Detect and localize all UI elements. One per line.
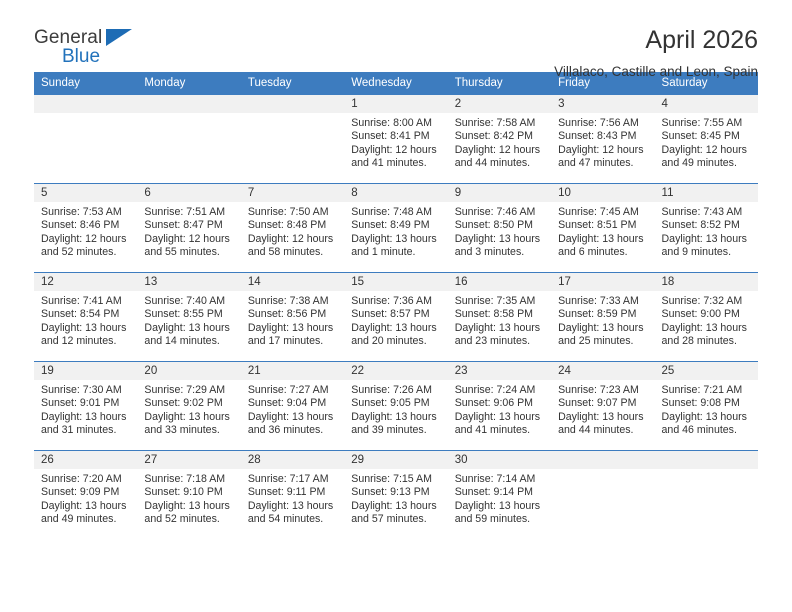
title-block: April 2026 Villalaco, Castille and Leon,… [554, 26, 758, 81]
sunset-text: Sunset: 8:50 PM [455, 219, 542, 232]
day-details: Sunrise: 7:32 AMSunset: 9:00 PMDaylight:… [655, 291, 758, 349]
day-number: 15 [344, 273, 447, 291]
day-details: Sunrise: 7:26 AMSunset: 9:05 PMDaylight:… [344, 380, 447, 438]
sunset-text: Sunset: 8:42 PM [455, 130, 542, 143]
day-number: 27 [137, 451, 240, 469]
page-header: General Blue April 2026 Villalaco, Casti… [34, 0, 758, 72]
sunset-text: Sunset: 8:46 PM [41, 219, 128, 232]
sunset-text: Sunset: 8:57 PM [351, 308, 438, 321]
day-details [655, 469, 758, 473]
calendar-day-cell[interactable]: 22Sunrise: 7:26 AMSunset: 9:05 PMDayligh… [344, 362, 447, 451]
sunset-text: Sunset: 9:14 PM [455, 486, 542, 499]
day-number: 20 [137, 362, 240, 380]
sunset-text: Sunset: 8:55 PM [144, 308, 231, 321]
calendar-table: Sunday Monday Tuesday Wednesday Thursday… [34, 72, 758, 540]
calendar-day-cell[interactable]: 28Sunrise: 7:17 AMSunset: 9:11 PMDayligh… [241, 451, 344, 540]
weekday-header-sunday: Sunday [34, 72, 137, 95]
day-details: Sunrise: 7:43 AMSunset: 8:52 PMDaylight:… [655, 202, 758, 260]
day-details: Sunrise: 7:29 AMSunset: 9:02 PMDaylight:… [137, 380, 240, 438]
day-details: Sunrise: 7:40 AMSunset: 8:55 PMDaylight:… [137, 291, 240, 349]
sunset-text: Sunset: 8:49 PM [351, 219, 438, 232]
day-number: 13 [137, 273, 240, 291]
day-cell-content [137, 95, 240, 183]
day-details: Sunrise: 7:55 AMSunset: 8:45 PMDaylight:… [655, 113, 758, 171]
day-details [34, 113, 137, 117]
sunset-text: Sunset: 9:02 PM [144, 397, 231, 410]
calendar-day-cell[interactable]: 25Sunrise: 7:21 AMSunset: 9:08 PMDayligh… [655, 362, 758, 451]
day-cell-content [551, 451, 654, 540]
daylight-text: Daylight: 13 hours and 36 minutes. [248, 411, 335, 438]
daylight-text: Daylight: 13 hours and 31 minutes. [41, 411, 128, 438]
sunrise-text: Sunrise: 7:45 AM [558, 206, 645, 219]
day-details: Sunrise: 8:00 AMSunset: 8:41 PMDaylight:… [344, 113, 447, 171]
sunset-text: Sunset: 8:58 PM [455, 308, 542, 321]
sunrise-text: Sunrise: 7:29 AM [144, 384, 231, 397]
day-number: 3 [551, 95, 654, 113]
calendar-body: 1Sunrise: 8:00 AMSunset: 8:41 PMDaylight… [34, 95, 758, 540]
day-cell-content: 6Sunrise: 7:51 AMSunset: 8:47 PMDaylight… [137, 184, 240, 272]
daylight-text: Daylight: 13 hours and 44 minutes. [558, 411, 645, 438]
day-cell-content: 24Sunrise: 7:23 AMSunset: 9:07 PMDayligh… [551, 362, 654, 450]
day-details: Sunrise: 7:46 AMSunset: 8:50 PMDaylight:… [448, 202, 551, 260]
sunrise-text: Sunrise: 7:15 AM [351, 473, 438, 486]
sunrise-text: Sunrise: 7:58 AM [455, 117, 542, 130]
sunrise-text: Sunrise: 7:43 AM [662, 206, 749, 219]
sunrise-text: Sunrise: 7:53 AM [41, 206, 128, 219]
calendar-day-cell[interactable]: 8Sunrise: 7:48 AMSunset: 8:49 PMDaylight… [344, 184, 447, 273]
day-cell-content: 16Sunrise: 7:35 AMSunset: 8:58 PMDayligh… [448, 273, 551, 361]
calendar-day-cell[interactable]: 5Sunrise: 7:53 AMSunset: 8:46 PMDaylight… [34, 184, 137, 273]
day-number: 24 [551, 362, 654, 380]
sunset-text: Sunset: 8:52 PM [662, 219, 749, 232]
sunrise-text: Sunrise: 7:23 AM [558, 384, 645, 397]
day-cell-content: 4Sunrise: 7:55 AMSunset: 8:45 PMDaylight… [655, 95, 758, 183]
day-cell-content: 19Sunrise: 7:30 AMSunset: 9:01 PMDayligh… [34, 362, 137, 450]
day-cell-content [34, 95, 137, 183]
day-number: 26 [34, 451, 137, 469]
calendar-day-cell[interactable]: 3Sunrise: 7:56 AMSunset: 8:43 PMDaylight… [551, 95, 654, 184]
daylight-text: Daylight: 13 hours and 28 minutes. [662, 322, 749, 349]
calendar-week-row: 26Sunrise: 7:20 AMSunset: 9:09 PMDayligh… [34, 451, 758, 540]
day-cell-content: 11Sunrise: 7:43 AMSunset: 8:52 PMDayligh… [655, 184, 758, 272]
daylight-text: Daylight: 13 hours and 14 minutes. [144, 322, 231, 349]
calendar-week-row: 1Sunrise: 8:00 AMSunset: 8:41 PMDaylight… [34, 95, 758, 184]
sunset-text: Sunset: 8:43 PM [558, 130, 645, 143]
day-cell-content: 30Sunrise: 7:14 AMSunset: 9:14 PMDayligh… [448, 451, 551, 540]
day-details: Sunrise: 7:33 AMSunset: 8:59 PMDaylight:… [551, 291, 654, 349]
daylight-text: Daylight: 13 hours and 49 minutes. [41, 500, 128, 527]
sunrise-text: Sunrise: 7:21 AM [662, 384, 749, 397]
day-cell-content: 15Sunrise: 7:36 AMSunset: 8:57 PMDayligh… [344, 273, 447, 361]
day-cell-content: 26Sunrise: 7:20 AMSunset: 9:09 PMDayligh… [34, 451, 137, 540]
brand-name-general: General [34, 28, 154, 48]
sunrise-text: Sunrise: 7:46 AM [455, 206, 542, 219]
calendar-day-cell[interactable]: 19Sunrise: 7:30 AMSunset: 9:01 PMDayligh… [34, 362, 137, 451]
day-number: 8 [344, 184, 447, 202]
day-details: Sunrise: 7:56 AMSunset: 8:43 PMDaylight:… [551, 113, 654, 171]
daylight-text: Daylight: 13 hours and 54 minutes. [248, 500, 335, 527]
calendar-empty-cell [655, 451, 758, 540]
calendar-day-cell[interactable]: 14Sunrise: 7:38 AMSunset: 8:56 PMDayligh… [241, 273, 344, 362]
sunset-text: Sunset: 8:51 PM [558, 219, 645, 232]
day-details: Sunrise: 7:41 AMSunset: 8:54 PMDaylight:… [34, 291, 137, 349]
sunset-text: Sunset: 9:08 PM [662, 397, 749, 410]
daylight-text: Daylight: 13 hours and 23 minutes. [455, 322, 542, 349]
calendar-day-cell[interactable]: 27Sunrise: 7:18 AMSunset: 9:10 PMDayligh… [137, 451, 240, 540]
day-details: Sunrise: 7:20 AMSunset: 9:09 PMDaylight:… [34, 469, 137, 527]
day-cell-content: 7Sunrise: 7:50 AMSunset: 8:48 PMDaylight… [241, 184, 344, 272]
day-cell-content [655, 451, 758, 540]
day-number: 30 [448, 451, 551, 469]
sunrise-text: Sunrise: 7:24 AM [455, 384, 542, 397]
daylight-text: Daylight: 13 hours and 12 minutes. [41, 322, 128, 349]
day-number: 17 [551, 273, 654, 291]
daylight-text: Daylight: 12 hours and 49 minutes. [662, 144, 749, 171]
daylight-text: Daylight: 13 hours and 9 minutes. [662, 233, 749, 260]
day-details: Sunrise: 7:23 AMSunset: 9:07 PMDaylight:… [551, 380, 654, 438]
sunrise-text: Sunrise: 7:56 AM [558, 117, 645, 130]
day-number: 9 [448, 184, 551, 202]
day-number: 4 [655, 95, 758, 113]
sunrise-text: Sunrise: 7:18 AM [144, 473, 231, 486]
calendar-day-cell[interactable]: 11Sunrise: 7:43 AMSunset: 8:52 PMDayligh… [655, 184, 758, 273]
day-number [655, 451, 758, 469]
day-cell-content: 25Sunrise: 7:21 AMSunset: 9:08 PMDayligh… [655, 362, 758, 450]
day-number: 16 [448, 273, 551, 291]
daylight-text: Daylight: 12 hours and 41 minutes. [351, 144, 438, 171]
calendar-week-row: 19Sunrise: 7:30 AMSunset: 9:01 PMDayligh… [34, 362, 758, 451]
daylight-text: Daylight: 13 hours and 39 minutes. [351, 411, 438, 438]
day-number [551, 451, 654, 469]
sunset-text: Sunset: 8:45 PM [662, 130, 749, 143]
calendar-day-cell[interactable]: 23Sunrise: 7:24 AMSunset: 9:06 PMDayligh… [448, 362, 551, 451]
daylight-text: Daylight: 12 hours and 55 minutes. [144, 233, 231, 260]
calendar-week-row: 5Sunrise: 7:53 AMSunset: 8:46 PMDaylight… [34, 184, 758, 273]
calendar-empty-cell [34, 95, 137, 184]
sunset-text: Sunset: 9:13 PM [351, 486, 438, 499]
sunset-text: Sunset: 9:09 PM [41, 486, 128, 499]
sunrise-text: Sunrise: 7:40 AM [144, 295, 231, 308]
calendar-day-cell[interactable]: 16Sunrise: 7:35 AMSunset: 8:58 PMDayligh… [448, 273, 551, 362]
daylight-text: Daylight: 13 hours and 41 minutes. [455, 411, 542, 438]
day-cell-content: 12Sunrise: 7:41 AMSunset: 8:54 PMDayligh… [34, 273, 137, 361]
day-cell-content: 1Sunrise: 8:00 AMSunset: 8:41 PMDaylight… [344, 95, 447, 183]
sunrise-text: Sunrise: 7:32 AM [662, 295, 749, 308]
brand-logo: General Blue [34, 26, 154, 67]
daylight-text: Daylight: 13 hours and 52 minutes. [144, 500, 231, 527]
calendar-day-cell[interactable]: 29Sunrise: 7:15 AMSunset: 9:13 PMDayligh… [344, 451, 447, 540]
sunset-text: Sunset: 8:54 PM [41, 308, 128, 321]
sunrise-text: Sunrise: 7:14 AM [455, 473, 542, 486]
day-number: 6 [137, 184, 240, 202]
day-cell-content: 8Sunrise: 7:48 AMSunset: 8:49 PMDaylight… [344, 184, 447, 272]
weekday-header-monday: Monday [137, 72, 240, 95]
calendar-day-cell[interactable]: 24Sunrise: 7:23 AMSunset: 9:07 PMDayligh… [551, 362, 654, 451]
day-cell-content: 23Sunrise: 7:24 AMSunset: 9:06 PMDayligh… [448, 362, 551, 450]
daylight-text: Daylight: 13 hours and 25 minutes. [558, 322, 645, 349]
day-details: Sunrise: 7:51 AMSunset: 8:47 PMDaylight:… [137, 202, 240, 260]
sunrise-text: Sunrise: 7:36 AM [351, 295, 438, 308]
day-details: Sunrise: 7:35 AMSunset: 8:58 PMDaylight:… [448, 291, 551, 349]
day-number [137, 95, 240, 113]
daylight-text: Daylight: 13 hours and 33 minutes. [144, 411, 231, 438]
calendar-day-cell[interactable]: 1Sunrise: 8:00 AMSunset: 8:41 PMDaylight… [344, 95, 447, 184]
calendar-day-cell[interactable]: 20Sunrise: 7:29 AMSunset: 9:02 PMDayligh… [137, 362, 240, 451]
day-cell-content: 10Sunrise: 7:45 AMSunset: 8:51 PMDayligh… [551, 184, 654, 272]
day-number: 28 [241, 451, 344, 469]
calendar-day-cell[interactable]: 6Sunrise: 7:51 AMSunset: 8:47 PMDaylight… [137, 184, 240, 273]
day-cell-content: 17Sunrise: 7:33 AMSunset: 8:59 PMDayligh… [551, 273, 654, 361]
day-details: Sunrise: 7:27 AMSunset: 9:04 PMDaylight:… [241, 380, 344, 438]
daylight-text: Daylight: 13 hours and 3 minutes. [455, 233, 542, 260]
sunrise-text: Sunrise: 7:35 AM [455, 295, 542, 308]
sunrise-text: Sunrise: 7:30 AM [41, 384, 128, 397]
sunrise-text: Sunrise: 7:20 AM [41, 473, 128, 486]
day-details: Sunrise: 7:18 AMSunset: 9:10 PMDaylight:… [137, 469, 240, 527]
day-cell-content [241, 95, 344, 183]
day-details: Sunrise: 7:15 AMSunset: 9:13 PMDaylight:… [344, 469, 447, 527]
sunrise-text: Sunrise: 7:27 AM [248, 384, 335, 397]
daylight-text: Daylight: 12 hours and 58 minutes. [248, 233, 335, 260]
day-details: Sunrise: 7:14 AMSunset: 9:14 PMDaylight:… [448, 469, 551, 527]
sunset-text: Sunset: 9:05 PM [351, 397, 438, 410]
sunrise-text: Sunrise: 7:55 AM [662, 117, 749, 130]
sunrise-text: Sunrise: 7:50 AM [248, 206, 335, 219]
calendar-page: General Blue April 2026 Villalaco, Casti… [0, 0, 792, 612]
day-number: 11 [655, 184, 758, 202]
day-cell-content: 18Sunrise: 7:32 AMSunset: 9:00 PMDayligh… [655, 273, 758, 361]
sunrise-text: Sunrise: 7:51 AM [144, 206, 231, 219]
day-details: Sunrise: 7:17 AMSunset: 9:11 PMDaylight:… [241, 469, 344, 527]
day-number: 7 [241, 184, 344, 202]
daylight-text: Daylight: 13 hours and 17 minutes. [248, 322, 335, 349]
weekday-header-tuesday: Tuesday [241, 72, 344, 95]
daylight-text: Daylight: 13 hours and 46 minutes. [662, 411, 749, 438]
sunrise-text: Sunrise: 7:33 AM [558, 295, 645, 308]
daylight-text: Daylight: 12 hours and 44 minutes. [455, 144, 542, 171]
day-number: 1 [344, 95, 447, 113]
sunrise-text: Sunrise: 8:00 AM [351, 117, 438, 130]
day-number: 10 [551, 184, 654, 202]
calendar-day-cell[interactable]: 18Sunrise: 7:32 AMSunset: 9:00 PMDayligh… [655, 273, 758, 362]
sunrise-text: Sunrise: 7:48 AM [351, 206, 438, 219]
calendar-day-cell[interactable]: 4Sunrise: 7:55 AMSunset: 8:45 PMDaylight… [655, 95, 758, 184]
day-details: Sunrise: 7:36 AMSunset: 8:57 PMDaylight:… [344, 291, 447, 349]
sunset-text: Sunset: 9:00 PM [662, 308, 749, 321]
day-details [137, 113, 240, 117]
daylight-text: Daylight: 13 hours and 1 minute. [351, 233, 438, 260]
calendar-day-cell[interactable]: 7Sunrise: 7:50 AMSunset: 8:48 PMDaylight… [241, 184, 344, 273]
daylight-text: Daylight: 13 hours and 59 minutes. [455, 500, 542, 527]
day-details [551, 469, 654, 473]
day-cell-content: 29Sunrise: 7:15 AMSunset: 9:13 PMDayligh… [344, 451, 447, 540]
sunrise-text: Sunrise: 7:26 AM [351, 384, 438, 397]
day-number: 12 [34, 273, 137, 291]
calendar-week-row: 12Sunrise: 7:41 AMSunset: 8:54 PMDayligh… [34, 273, 758, 362]
calendar-day-cell[interactable]: 21Sunrise: 7:27 AMSunset: 9:04 PMDayligh… [241, 362, 344, 451]
day-cell-content: 22Sunrise: 7:26 AMSunset: 9:05 PMDayligh… [344, 362, 447, 450]
calendar-day-cell[interactable]: 26Sunrise: 7:20 AMSunset: 9:09 PMDayligh… [34, 451, 137, 540]
day-details: Sunrise: 7:48 AMSunset: 8:49 PMDaylight:… [344, 202, 447, 260]
day-details: Sunrise: 7:53 AMSunset: 8:46 PMDaylight:… [34, 202, 137, 260]
sunrise-text: Sunrise: 7:17 AM [248, 473, 335, 486]
day-number: 23 [448, 362, 551, 380]
sunrise-text: Sunrise: 7:41 AM [41, 295, 128, 308]
day-cell-content: 9Sunrise: 7:46 AMSunset: 8:50 PMDaylight… [448, 184, 551, 272]
sunset-text: Sunset: 9:01 PM [41, 397, 128, 410]
calendar-day-cell[interactable]: 9Sunrise: 7:46 AMSunset: 8:50 PMDaylight… [448, 184, 551, 273]
day-number: 25 [655, 362, 758, 380]
day-cell-content: 3Sunrise: 7:56 AMSunset: 8:43 PMDaylight… [551, 95, 654, 183]
day-details: Sunrise: 7:21 AMSunset: 9:08 PMDaylight:… [655, 380, 758, 438]
calendar-empty-cell [241, 95, 344, 184]
day-number: 29 [344, 451, 447, 469]
day-number: 19 [34, 362, 137, 380]
sunset-text: Sunset: 8:59 PM [558, 308, 645, 321]
daylight-text: Daylight: 12 hours and 47 minutes. [558, 144, 645, 171]
day-cell-content: 21Sunrise: 7:27 AMSunset: 9:04 PMDayligh… [241, 362, 344, 450]
sunset-text: Sunset: 8:41 PM [351, 130, 438, 143]
daylight-text: Daylight: 13 hours and 57 minutes. [351, 500, 438, 527]
day-cell-content: 2Sunrise: 7:58 AMSunset: 8:42 PMDaylight… [448, 95, 551, 183]
day-number: 22 [344, 362, 447, 380]
sunset-text: Sunset: 8:47 PM [144, 219, 231, 232]
calendar-empty-cell [551, 451, 654, 540]
daylight-text: Daylight: 13 hours and 6 minutes. [558, 233, 645, 260]
weekday-header-wednesday: Wednesday [344, 72, 447, 95]
day-cell-content: 14Sunrise: 7:38 AMSunset: 8:56 PMDayligh… [241, 273, 344, 361]
day-cell-content: 5Sunrise: 7:53 AMSunset: 8:46 PMDaylight… [34, 184, 137, 272]
day-details: Sunrise: 7:30 AMSunset: 9:01 PMDaylight:… [34, 380, 137, 438]
sunset-text: Sunset: 9:06 PM [455, 397, 542, 410]
brand-name-blue: Blue [34, 47, 154, 67]
calendar-day-cell[interactable]: 13Sunrise: 7:40 AMSunset: 8:55 PMDayligh… [137, 273, 240, 362]
calendar-day-cell[interactable]: 30Sunrise: 7:14 AMSunset: 9:14 PMDayligh… [448, 451, 551, 540]
day-cell-content: 20Sunrise: 7:29 AMSunset: 9:02 PMDayligh… [137, 362, 240, 450]
day-number: 14 [241, 273, 344, 291]
page-title: April 2026 [554, 26, 758, 55]
day-details: Sunrise: 7:50 AMSunset: 8:48 PMDaylight:… [241, 202, 344, 260]
day-cell-content: 28Sunrise: 7:17 AMSunset: 9:11 PMDayligh… [241, 451, 344, 540]
sunset-text: Sunset: 9:04 PM [248, 397, 335, 410]
sunset-text: Sunset: 8:48 PM [248, 219, 335, 232]
weekday-header-thursday: Thursday [448, 72, 551, 95]
day-details: Sunrise: 7:24 AMSunset: 9:06 PMDaylight:… [448, 380, 551, 438]
calendar-day-cell[interactable]: 10Sunrise: 7:45 AMSunset: 8:51 PMDayligh… [551, 184, 654, 273]
day-number: 2 [448, 95, 551, 113]
day-details: Sunrise: 7:58 AMSunset: 8:42 PMDaylight:… [448, 113, 551, 171]
daylight-text: Daylight: 12 hours and 52 minutes. [41, 233, 128, 260]
sunset-text: Sunset: 9:10 PM [144, 486, 231, 499]
sunset-text: Sunset: 9:11 PM [248, 486, 335, 499]
sunrise-text: Sunrise: 7:38 AM [248, 295, 335, 308]
calendar-day-cell[interactable]: 12Sunrise: 7:41 AMSunset: 8:54 PMDayligh… [34, 273, 137, 362]
day-details: Sunrise: 7:45 AMSunset: 8:51 PMDaylight:… [551, 202, 654, 260]
daylight-text: Daylight: 13 hours and 20 minutes. [351, 322, 438, 349]
day-cell-content: 27Sunrise: 7:18 AMSunset: 9:10 PMDayligh… [137, 451, 240, 540]
sunset-text: Sunset: 8:56 PM [248, 308, 335, 321]
calendar-day-cell[interactable]: 17Sunrise: 7:33 AMSunset: 8:59 PMDayligh… [551, 273, 654, 362]
calendar-day-cell[interactable]: 2Sunrise: 7:58 AMSunset: 8:42 PMDaylight… [448, 95, 551, 184]
day-details [241, 113, 344, 117]
brand-triangle-icon [106, 29, 132, 46]
day-cell-content: 13Sunrise: 7:40 AMSunset: 8:55 PMDayligh… [137, 273, 240, 361]
day-number: 5 [34, 184, 137, 202]
day-number [241, 95, 344, 113]
day-number [34, 95, 137, 113]
day-number: 18 [655, 273, 758, 291]
calendar-empty-cell [137, 95, 240, 184]
day-number: 21 [241, 362, 344, 380]
calendar-day-cell[interactable]: 15Sunrise: 7:36 AMSunset: 8:57 PMDayligh… [344, 273, 447, 362]
sunset-text: Sunset: 9:07 PM [558, 397, 645, 410]
day-details: Sunrise: 7:38 AMSunset: 8:56 PMDaylight:… [241, 291, 344, 349]
